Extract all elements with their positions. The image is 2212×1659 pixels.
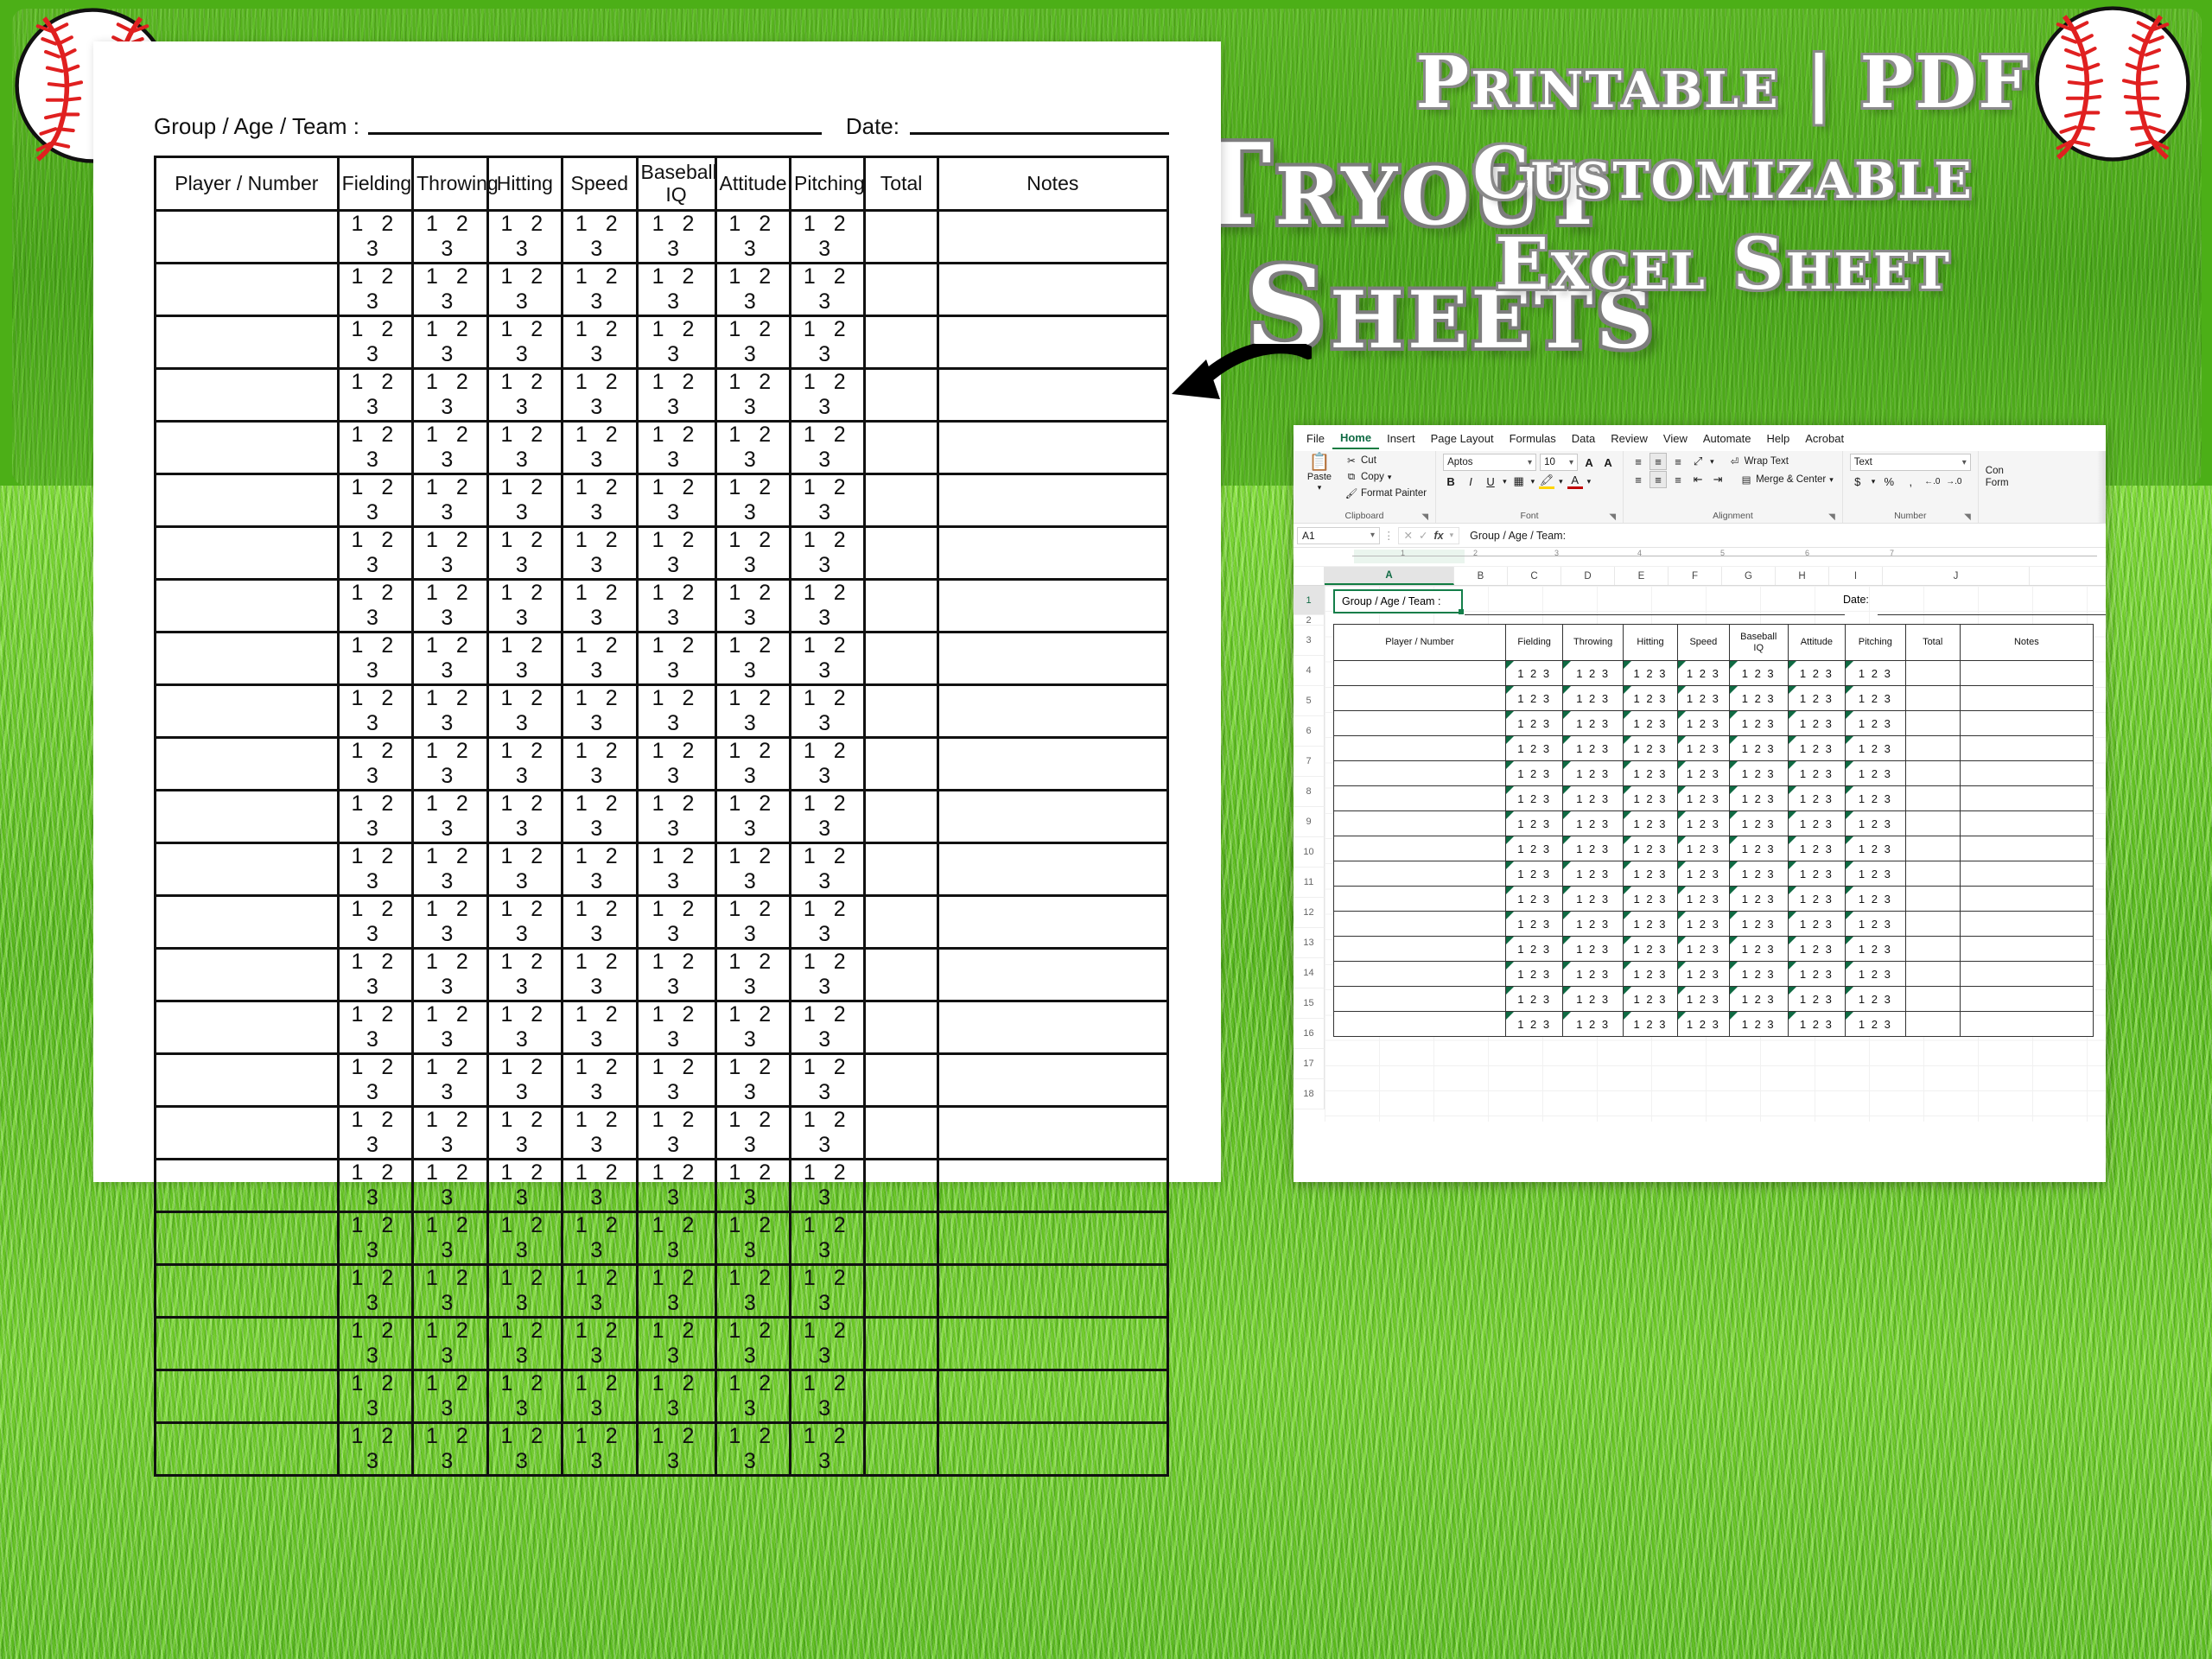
orientation-chevron-down-icon[interactable]: ▾ (1710, 457, 1714, 467)
excel-score-cell[interactable]: 1 2 3 (1729, 836, 1788, 861)
input-cell[interactable] (938, 1265, 1167, 1318)
confirm-icon[interactable]: ✓ (1419, 529, 1427, 542)
column-header-B[interactable]: B (1454, 567, 1508, 585)
excel-score-cell[interactable]: 1 2 3 (1846, 786, 1906, 811)
score-cell[interactable]: 1 2 3 (563, 632, 637, 685)
column-header-I[interactable]: I (1829, 567, 1883, 585)
score-cell[interactable]: 1 2 3 (715, 264, 790, 316)
score-cell[interactable]: 1 2 3 (563, 685, 637, 738)
excel-input-cell[interactable] (1905, 912, 1960, 937)
cancel-icon[interactable]: ✕ (1404, 529, 1413, 542)
tab-data[interactable]: Data (1564, 429, 1603, 448)
excel-score-cell[interactable]: 1 2 3 (1624, 987, 1678, 1012)
score-cell[interactable]: 1 2 3 (338, 1107, 412, 1160)
input-cell[interactable] (156, 211, 339, 264)
excel-score-cell[interactable]: 1 2 3 (1624, 861, 1678, 887)
excel-input-cell[interactable] (1334, 736, 1506, 761)
score-cell[interactable]: 1 2 3 (338, 1318, 412, 1370)
tab-home[interactable]: Home (1332, 428, 1379, 449)
excel-score-cell[interactable]: 1 2 3 (1506, 1012, 1563, 1037)
input-cell[interactable] (865, 685, 938, 738)
score-cell[interactable]: 1 2 3 (413, 316, 487, 369)
score-cell[interactable]: 1 2 3 (637, 738, 715, 791)
excel-input-cell[interactable] (1960, 711, 2093, 736)
excel-input-cell[interactable] (1334, 811, 1506, 836)
paste-chevron-down-icon[interactable]: ▾ (1318, 483, 1322, 493)
table-row[interactable]: 1 2 31 2 31 2 31 2 31 2 31 2 31 2 3 (156, 527, 1168, 580)
score-cell[interactable]: 1 2 3 (637, 791, 715, 843)
excel-score-cell[interactable]: 1 2 3 (1624, 1012, 1678, 1037)
align-right-icon[interactable]: ≡ (1670, 472, 1686, 487)
row-header-15[interactable]: 15 (1294, 988, 1325, 1019)
score-cell[interactable]: 1 2 3 (637, 1212, 715, 1265)
excel-score-cell[interactable]: 1 2 3 (1563, 761, 1624, 786)
input-cell[interactable] (156, 422, 339, 474)
table-row[interactable]: 1 2 31 2 31 2 31 2 31 2 31 2 31 2 3 (156, 369, 1168, 422)
excel-input-cell[interactable] (1905, 811, 1960, 836)
excel-score-cell[interactable]: 1 2 3 (1624, 836, 1678, 861)
number-format-select[interactable]: Text ▾ (1850, 454, 1971, 471)
excel-score-cell[interactable]: 1 2 3 (1678, 711, 1730, 736)
score-cell[interactable]: 1 2 3 (637, 527, 715, 580)
score-cell[interactable]: 1 2 3 (791, 791, 865, 843)
input-cell[interactable] (865, 1107, 938, 1160)
excel-score-cell[interactable]: 1 2 3 (1846, 861, 1906, 887)
excel-window[interactable]: File Home Insert Page Layout Formulas Da… (1294, 425, 2106, 1182)
input-cell[interactable] (865, 527, 938, 580)
excel-score-cell[interactable]: 1 2 3 (1788, 861, 1845, 887)
excel-score-cell[interactable]: 1 2 3 (1624, 912, 1678, 937)
score-cell[interactable]: 1 2 3 (338, 632, 412, 685)
excel-score-cell[interactable]: 1 2 3 (1678, 937, 1730, 962)
font-name-chevron-down-icon[interactable]: ▾ (1528, 458, 1532, 467)
input-cell[interactable] (865, 1212, 938, 1265)
excel-score-cell[interactable]: 1 2 3 (1563, 912, 1624, 937)
input-cell[interactable] (938, 316, 1167, 369)
row-header-13[interactable]: 13 (1294, 928, 1325, 958)
input-cell[interactable] (938, 896, 1167, 949)
score-cell[interactable]: 1 2 3 (715, 580, 790, 632)
excel-score-cell[interactable]: 1 2 3 (1788, 887, 1845, 912)
excel-score-cell[interactable]: 1 2 3 (1506, 786, 1563, 811)
excel-table-row[interactable]: 1 2 31 2 31 2 31 2 31 2 31 2 31 2 3 (1334, 736, 2094, 761)
excel-score-cell[interactable]: 1 2 3 (1678, 962, 1730, 987)
score-cell[interactable]: 1 2 3 (338, 1160, 412, 1212)
table-row[interactable]: 1 2 31 2 31 2 31 2 31 2 31 2 31 2 3 (156, 580, 1168, 632)
table-row[interactable]: 1 2 31 2 31 2 31 2 31 2 31 2 31 2 3 (156, 685, 1168, 738)
score-cell[interactable]: 1 2 3 (563, 422, 637, 474)
underline-chevron-down-icon[interactable]: ▾ (1503, 477, 1507, 486)
input-cell[interactable] (156, 685, 339, 738)
input-cell[interactable] (156, 949, 339, 1001)
score-cell[interactable]: 1 2 3 (791, 843, 865, 896)
input-cell[interactable] (865, 211, 938, 264)
score-cell[interactable]: 1 2 3 (487, 1370, 562, 1423)
excel-score-cell[interactable]: 1 2 3 (1846, 761, 1906, 786)
score-cell[interactable]: 1 2 3 (715, 1318, 790, 1370)
align-bottom-icon[interactable]: ≡ (1670, 454, 1686, 469)
table-row[interactable]: 1 2 31 2 31 2 31 2 31 2 31 2 31 2 3 (156, 1054, 1168, 1107)
score-cell[interactable]: 1 2 3 (413, 738, 487, 791)
excel-score-cell[interactable]: 1 2 3 (1624, 962, 1678, 987)
excel-score-cell[interactable]: 1 2 3 (1846, 987, 1906, 1012)
score-cell[interactable]: 1 2 3 (563, 1160, 637, 1212)
excel-input-cell[interactable] (1960, 811, 2093, 836)
excel-score-cell[interactable]: 1 2 3 (1563, 836, 1624, 861)
score-cell[interactable]: 1 2 3 (487, 527, 562, 580)
input-cell[interactable] (938, 369, 1167, 422)
excel-score-cell[interactable]: 1 2 3 (1729, 761, 1788, 786)
excel-score-cell[interactable]: 1 2 3 (1506, 711, 1563, 736)
score-cell[interactable]: 1 2 3 (637, 1160, 715, 1212)
borders-chevron-down-icon[interactable]: ▾ (1531, 477, 1535, 486)
percent-button[interactable]: % (1881, 474, 1897, 489)
input-cell[interactable] (938, 843, 1167, 896)
excel-score-cell[interactable]: 1 2 3 (1506, 861, 1563, 887)
row-header-2[interactable]: 2 (1294, 615, 1325, 626)
score-cell[interactable]: 1 2 3 (715, 632, 790, 685)
score-cell[interactable]: 1 2 3 (715, 1001, 790, 1054)
excel-input-cell[interactable] (1905, 786, 1960, 811)
score-cell[interactable]: 1 2 3 (413, 369, 487, 422)
score-cell[interactable]: 1 2 3 (413, 474, 487, 527)
excel-score-cell[interactable]: 1 2 3 (1678, 912, 1730, 937)
excel-table-row[interactable]: 1 2 31 2 31 2 31 2 31 2 31 2 31 2 3 (1334, 786, 2094, 811)
input-cell[interactable] (156, 1001, 339, 1054)
score-cell[interactable]: 1 2 3 (715, 1107, 790, 1160)
formula-controls[interactable]: ✕ ✓ fx ▾ (1398, 527, 1460, 544)
excel-score-cell[interactable]: 1 2 3 (1624, 736, 1678, 761)
score-cell[interactable]: 1 2 3 (715, 316, 790, 369)
excel-score-cell[interactable]: 1 2 3 (1563, 711, 1624, 736)
input-cell[interactable] (865, 791, 938, 843)
excel-input-cell[interactable] (1334, 912, 1506, 937)
row-header-1[interactable]: 1 (1294, 586, 1325, 615)
excel-score-cell[interactable]: 1 2 3 (1506, 962, 1563, 987)
sheet-grid[interactable]: 123456789101112131415161718 Group / Age … (1294, 586, 2106, 1122)
row-header-9[interactable]: 9 (1294, 807, 1325, 837)
score-cell[interactable]: 1 2 3 (413, 527, 487, 580)
input-cell[interactable] (865, 1423, 938, 1476)
excel-score-cell[interactable]: 1 2 3 (1563, 937, 1624, 962)
excel-score-cell[interactable]: 1 2 3 (1846, 836, 1906, 861)
column-header-D[interactable]: D (1561, 567, 1615, 585)
input-cell[interactable] (938, 422, 1167, 474)
table-row[interactable]: 1 2 31 2 31 2 31 2 31 2 31 2 31 2 3 (156, 843, 1168, 896)
score-cell[interactable]: 1 2 3 (715, 843, 790, 896)
table-row[interactable]: 1 2 31 2 31 2 31 2 31 2 31 2 31 2 3 (156, 949, 1168, 1001)
input-cell[interactable] (156, 1423, 339, 1476)
input-cell[interactable] (156, 316, 339, 369)
input-cell[interactable] (156, 738, 339, 791)
score-cell[interactable]: 1 2 3 (563, 843, 637, 896)
score-cell[interactable]: 1 2 3 (563, 316, 637, 369)
excel-score-cell[interactable]: 1 2 3 (1678, 736, 1730, 761)
row-header-11[interactable]: 11 (1294, 868, 1325, 898)
excel-score-cell[interactable]: 1 2 3 (1846, 811, 1906, 836)
score-cell[interactable]: 1 2 3 (413, 211, 487, 264)
excel-score-cell[interactable]: 1 2 3 (1846, 711, 1906, 736)
input-cell[interactable] (865, 1370, 938, 1423)
excel-score-cell[interactable]: 1 2 3 (1729, 1012, 1788, 1037)
score-cell[interactable]: 1 2 3 (791, 1107, 865, 1160)
score-cell[interactable]: 1 2 3 (413, 1265, 487, 1318)
score-cell[interactable]: 1 2 3 (563, 527, 637, 580)
font-name-select[interactable]: Aptos ▾ (1443, 454, 1536, 471)
score-cell[interactable]: 1 2 3 (791, 1370, 865, 1423)
cell-a1[interactable]: Group / Age / Team : (1333, 589, 1463, 613)
excel-score-cell[interactable]: 1 2 3 (1678, 887, 1730, 912)
input-cell[interactable] (156, 1318, 339, 1370)
input-cell[interactable] (156, 791, 339, 843)
excel-score-cell[interactable]: 1 2 3 (1846, 686, 1906, 711)
excel-score-cell[interactable]: 1 2 3 (1563, 736, 1624, 761)
score-cell[interactable]: 1 2 3 (487, 211, 562, 264)
column-header-E[interactable]: E (1615, 567, 1669, 585)
score-cell[interactable]: 1 2 3 (487, 685, 562, 738)
input-cell[interactable] (865, 1318, 938, 1370)
table-row[interactable]: 1 2 31 2 31 2 31 2 31 2 31 2 31 2 3 (156, 791, 1168, 843)
currency-chevron-down-icon[interactable]: ▾ (1872, 477, 1876, 486)
input-cell[interactable] (938, 1370, 1167, 1423)
row-header-3[interactable]: 3 (1294, 626, 1325, 656)
score-cell[interactable]: 1 2 3 (637, 211, 715, 264)
score-cell[interactable]: 1 2 3 (715, 791, 790, 843)
score-cell[interactable]: 1 2 3 (715, 1265, 790, 1318)
excel-score-cell[interactable]: 1 2 3 (1678, 686, 1730, 711)
input-cell[interactable] (865, 843, 938, 896)
score-cell[interactable]: 1 2 3 (413, 632, 487, 685)
table-row[interactable]: 1 2 31 2 31 2 31 2 31 2 31 2 31 2 3 (156, 1001, 1168, 1054)
score-cell[interactable]: 1 2 3 (637, 1265, 715, 1318)
input-cell[interactable] (156, 1160, 339, 1212)
copy-chevron-down-icon[interactable]: ▾ (1388, 473, 1392, 482)
excel-score-cell[interactable]: 1 2 3 (1624, 686, 1678, 711)
currency-button[interactable]: $ (1850, 474, 1866, 489)
score-cell[interactable]: 1 2 3 (338, 422, 412, 474)
excel-input-cell[interactable] (1334, 661, 1506, 686)
excel-score-cell[interactable]: 1 2 3 (1506, 937, 1563, 962)
tab-formulas[interactable]: Formulas (1502, 429, 1564, 448)
tab-file[interactable]: File (1299, 429, 1332, 448)
excel-input-cell[interactable] (1905, 937, 1960, 962)
excel-input-cell[interactable] (1334, 686, 1506, 711)
tab-page-layout[interactable]: Page Layout (1423, 429, 1502, 448)
score-cell[interactable]: 1 2 3 (413, 1160, 487, 1212)
input-cell[interactable] (938, 1212, 1167, 1265)
excel-table-row[interactable]: 1 2 31 2 31 2 31 2 31 2 31 2 31 2 3 (1334, 811, 2094, 836)
formula-chevron-down-icon[interactable]: ▾ (1450, 531, 1454, 540)
score-cell[interactable]: 1 2 3 (563, 1423, 637, 1476)
score-cell[interactable]: 1 2 3 (563, 1318, 637, 1370)
input-cell[interactable] (156, 474, 339, 527)
input-cell[interactable] (938, 685, 1167, 738)
table-row[interactable]: 1 2 31 2 31 2 31 2 31 2 31 2 31 2 3 (156, 422, 1168, 474)
input-cell[interactable] (156, 896, 339, 949)
excel-input-cell[interactable] (1905, 987, 1960, 1012)
table-row[interactable]: 1 2 31 2 31 2 31 2 31 2 31 2 31 2 3 (156, 211, 1168, 264)
score-cell[interactable]: 1 2 3 (791, 685, 865, 738)
table-row[interactable]: 1 2 31 2 31 2 31 2 31 2 31 2 31 2 3 (156, 264, 1168, 316)
score-cell[interactable]: 1 2 3 (487, 1423, 562, 1476)
cut-button[interactable]: ✂ Cut (1344, 454, 1428, 467)
excel-score-cell[interactable]: 1 2 3 (1678, 811, 1730, 836)
score-cell[interactable]: 1 2 3 (637, 369, 715, 422)
score-cell[interactable]: 1 2 3 (413, 896, 487, 949)
score-cell[interactable]: 1 2 3 (338, 949, 412, 1001)
copy-button[interactable]: ⧉ Copy ▾ (1344, 470, 1428, 484)
tab-review[interactable]: Review (1603, 429, 1656, 448)
score-cell[interactable]: 1 2 3 (637, 1054, 715, 1107)
score-cell[interactable]: 1 2 3 (413, 1107, 487, 1160)
score-cell[interactable]: 1 2 3 (637, 1318, 715, 1370)
score-cell[interactable]: 1 2 3 (338, 843, 412, 896)
score-cell[interactable]: 1 2 3 (791, 1423, 865, 1476)
score-cell[interactable]: 1 2 3 (791, 527, 865, 580)
excel-input-cell[interactable] (1960, 661, 2093, 686)
score-cell[interactable]: 1 2 3 (413, 1370, 487, 1423)
input-cell[interactable] (865, 738, 938, 791)
row-header-8[interactable]: 8 (1294, 777, 1325, 807)
input-cell[interactable] (938, 1001, 1167, 1054)
excel-input-cell[interactable] (1334, 887, 1506, 912)
excel-score-cell[interactable]: 1 2 3 (1506, 887, 1563, 912)
row-header-12[interactable]: 12 (1294, 898, 1325, 928)
excel-score-cell[interactable]: 1 2 3 (1846, 912, 1906, 937)
excel-score-cell[interactable]: 1 2 3 (1624, 786, 1678, 811)
score-cell[interactable]: 1 2 3 (791, 211, 865, 264)
excel-score-cell[interactable]: 1 2 3 (1678, 786, 1730, 811)
align-middle-icon[interactable]: ≡ (1650, 454, 1666, 469)
excel-table-row[interactable]: 1 2 31 2 31 2 31 2 31 2 31 2 31 2 3 (1334, 761, 2094, 786)
tab-help[interactable]: Help (1759, 429, 1798, 448)
score-cell[interactable]: 1 2 3 (413, 685, 487, 738)
excel-ribbon[interactable]: 📋 Paste ▾ ✂ Cut ⧉ Copy ▾ (1294, 451, 2106, 524)
score-cell[interactable]: 1 2 3 (338, 1001, 412, 1054)
score-cell[interactable]: 1 2 3 (715, 527, 790, 580)
excel-input-cell[interactable] (1334, 861, 1506, 887)
excel-score-cell[interactable]: 1 2 3 (1563, 887, 1624, 912)
score-cell[interactable]: 1 2 3 (637, 1107, 715, 1160)
input-cell[interactable] (938, 1423, 1167, 1476)
table-row[interactable]: 1 2 31 2 31 2 31 2 31 2 31 2 31 2 3 (156, 1107, 1168, 1160)
input-cell[interactable] (865, 264, 938, 316)
excel-input-cell[interactable] (1960, 1012, 2093, 1037)
excel-score-cell[interactable]: 1 2 3 (1788, 711, 1845, 736)
underline-button[interactable]: U (1483, 474, 1498, 489)
excel-input-cell[interactable] (1905, 761, 1960, 786)
excel-score-cell[interactable]: 1 2 3 (1788, 686, 1845, 711)
decrease-indent-icon[interactable]: ⇤ (1690, 472, 1706, 487)
score-cell[interactable]: 1 2 3 (487, 949, 562, 1001)
conditional-formatting-label-line1[interactable]: Con (1986, 466, 2004, 476)
input-cell[interactable] (938, 527, 1167, 580)
excel-score-cell[interactable]: 1 2 3 (1563, 686, 1624, 711)
input-cell[interactable] (938, 1160, 1167, 1212)
score-cell[interactable]: 1 2 3 (338, 211, 412, 264)
excel-input-cell[interactable] (1905, 661, 1960, 686)
row-header-column[interactable]: 123456789101112131415161718 (1294, 586, 1325, 1122)
input-cell[interactable] (865, 949, 938, 1001)
excel-score-cell[interactable]: 1 2 3 (1846, 887, 1906, 912)
input-cell[interactable] (938, 791, 1167, 843)
orientation-icon[interactable]: ⤢ (1690, 454, 1706, 469)
increase-decimal-icon[interactable]: ←.0 (1924, 474, 1940, 489)
score-cell[interactable]: 1 2 3 (715, 738, 790, 791)
excel-score-cell[interactable]: 1 2 3 (1624, 887, 1678, 912)
column-header-A[interactable]: A (1325, 567, 1454, 585)
score-cell[interactable]: 1 2 3 (791, 422, 865, 474)
score-cell[interactable]: 1 2 3 (413, 949, 487, 1001)
excel-table-row[interactable]: 1 2 31 2 31 2 31 2 31 2 31 2 31 2 3 (1334, 937, 2094, 962)
excel-score-cell[interactable]: 1 2 3 (1788, 786, 1845, 811)
excel-score-cell[interactable]: 1 2 3 (1729, 686, 1788, 711)
score-cell[interactable]: 1 2 3 (563, 1370, 637, 1423)
score-cell[interactable]: 1 2 3 (637, 1370, 715, 1423)
input-cell[interactable] (865, 896, 938, 949)
score-cell[interactable]: 1 2 3 (637, 843, 715, 896)
score-cell[interactable]: 1 2 3 (413, 791, 487, 843)
alignment-dialog-launcher-icon[interactable]: ◥ (1828, 512, 1835, 522)
wrap-text-button[interactable]: ⏎ Wrap Text (1727, 454, 1790, 468)
paste-button[interactable]: 📋 Paste ▾ (1300, 454, 1338, 493)
row-header-17[interactable]: 17 (1294, 1049, 1325, 1079)
input-cell[interactable] (156, 369, 339, 422)
excel-table-row[interactable]: 1 2 31 2 31 2 31 2 31 2 31 2 31 2 3 (1334, 861, 2094, 887)
excel-score-cell[interactable]: 1 2 3 (1788, 987, 1845, 1012)
excel-table-row[interactable]: 1 2 31 2 31 2 31 2 31 2 31 2 31 2 3 (1334, 987, 2094, 1012)
score-cell[interactable]: 1 2 3 (637, 685, 715, 738)
table-row[interactable]: 1 2 31 2 31 2 31 2 31 2 31 2 31 2 3 (156, 316, 1168, 369)
input-cell[interactable] (938, 1107, 1167, 1160)
excel-score-cell[interactable]: 1 2 3 (1563, 861, 1624, 887)
score-cell[interactable]: 1 2 3 (791, 474, 865, 527)
input-cell[interactable] (938, 264, 1167, 316)
align-top-icon[interactable]: ≡ (1630, 454, 1646, 469)
merge-chevron-down-icon[interactable]: ▾ (1829, 475, 1834, 485)
score-cell[interactable]: 1 2 3 (563, 791, 637, 843)
increase-font-size-button[interactable]: A (1581, 454, 1597, 470)
excel-score-cell[interactable]: 1 2 3 (1624, 661, 1678, 686)
font-size-chevron-down-icon[interactable]: ▾ (1569, 458, 1573, 467)
score-cell[interactable]: 1 2 3 (487, 580, 562, 632)
table-row[interactable]: 1 2 31 2 31 2 31 2 31 2 31 2 31 2 3 (156, 738, 1168, 791)
score-cell[interactable]: 1 2 3 (715, 949, 790, 1001)
clipboard-dialog-launcher-icon[interactable]: ◥ (1421, 512, 1428, 522)
score-cell[interactable]: 1 2 3 (637, 632, 715, 685)
score-cell[interactable]: 1 2 3 (715, 211, 790, 264)
tab-view[interactable]: View (1656, 429, 1695, 448)
excel-score-cell[interactable]: 1 2 3 (1729, 736, 1788, 761)
insert-function-icon[interactable]: fx (1433, 530, 1443, 542)
format-painter-button[interactable]: 🖌 Format Painter (1344, 486, 1428, 500)
excel-score-cell[interactable]: 1 2 3 (1678, 661, 1730, 686)
excel-input-cell[interactable] (1960, 937, 2093, 962)
excel-score-cell[interactable]: 1 2 3 (1563, 661, 1624, 686)
excel-input-cell[interactable] (1334, 786, 1506, 811)
excel-input-cell[interactable] (1334, 937, 1506, 962)
score-cell[interactable]: 1 2 3 (487, 791, 562, 843)
input-cell[interactable] (865, 632, 938, 685)
excel-score-cell[interactable]: 1 2 3 (1729, 661, 1788, 686)
excel-table-row[interactable]: 1 2 31 2 31 2 31 2 31 2 31 2 31 2 3 (1334, 836, 2094, 861)
excel-score-cell[interactable]: 1 2 3 (1624, 761, 1678, 786)
excel-input-cell[interactable] (1960, 786, 2093, 811)
row-header-14[interactable]: 14 (1294, 958, 1325, 988)
score-cell[interactable]: 1 2 3 (413, 1001, 487, 1054)
input-cell[interactable] (156, 1370, 339, 1423)
score-cell[interactable]: 1 2 3 (715, 1370, 790, 1423)
